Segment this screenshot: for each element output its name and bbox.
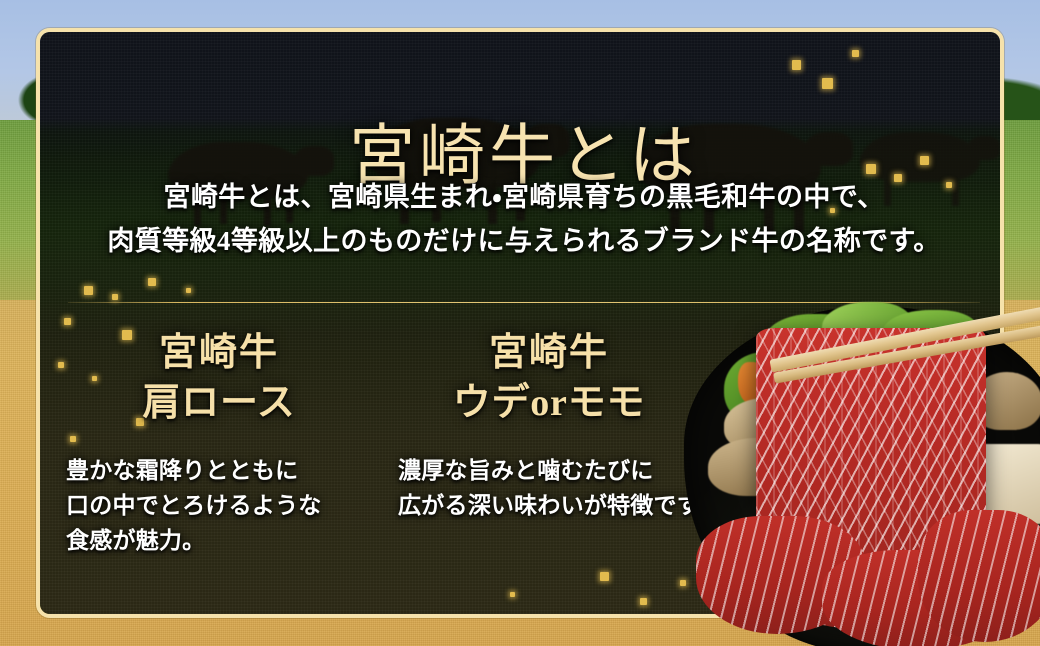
lead-line-2: 肉質等級4等級以上のものだけに与えられるブランド牛の名称です。: [40, 220, 1004, 264]
product-column-ude-or-momo: 宮崎牛 ウデorモモ 濃厚な旨みと噛むたびに 広がる深い味わいが特徴です。: [384, 328, 714, 524]
product-cut: ウデorモモ: [384, 378, 714, 428]
product-cut: 肩ロース: [54, 378, 384, 428]
product-description-line: 口の中でとろけるような: [66, 489, 384, 524]
marbled-beef-slice: [918, 510, 1040, 642]
product-description: 豊かな霜降りとともに 口の中でとろけるような 食感が魅力。: [54, 454, 384, 559]
product-heading: 宮崎牛 肩ロース: [54, 328, 384, 428]
product-description-line: 濃厚な旨みと噛むたびに: [398, 454, 714, 489]
lead-line-1: 宮崎牛とは、宮崎県生まれ・宮崎県育ちの黒毛和牛の中で、: [40, 176, 1004, 220]
product-brand: 宮崎牛: [54, 328, 384, 378]
gold-flake: [852, 50, 859, 57]
beef-photo: [672, 288, 1040, 646]
gold-flake: [84, 286, 93, 295]
product-description-line: 豊かな霜降りとともに: [66, 454, 384, 489]
gold-flake: [112, 294, 118, 300]
lead-paragraph: 宮崎牛とは、宮崎県生まれ・宮崎県育ちの黒毛和牛の中で、 肉質等級4等級以上のもの…: [40, 176, 1004, 263]
product-brand: 宮崎牛: [384, 328, 714, 378]
product-description: 濃厚な旨みと噛むたびに 広がる深い味わいが特徴です。: [384, 454, 714, 524]
gold-flake: [148, 278, 156, 286]
product-description-line: 食感が魅力。: [66, 524, 384, 559]
product-description-line: 広がる深い味わいが特徴です。: [398, 489, 714, 524]
product-column-kata-rosu: 宮崎牛 肩ロース 豊かな霜降りとともに 口の中でとろけるような 食感が魅力。: [54, 328, 384, 559]
gold-flake: [64, 318, 71, 325]
miyazaki-beef-banner: 宮崎牛とは 宮崎牛とは、宮崎県生まれ・宮崎県育ちの黒毛和牛の中で、 肉質等級4等…: [0, 0, 1040, 646]
gold-flake: [792, 60, 801, 70]
gold-flake: [186, 288, 191, 293]
gold-flake: [822, 78, 833, 89]
product-heading: 宮崎牛 ウデorモモ: [384, 328, 714, 428]
